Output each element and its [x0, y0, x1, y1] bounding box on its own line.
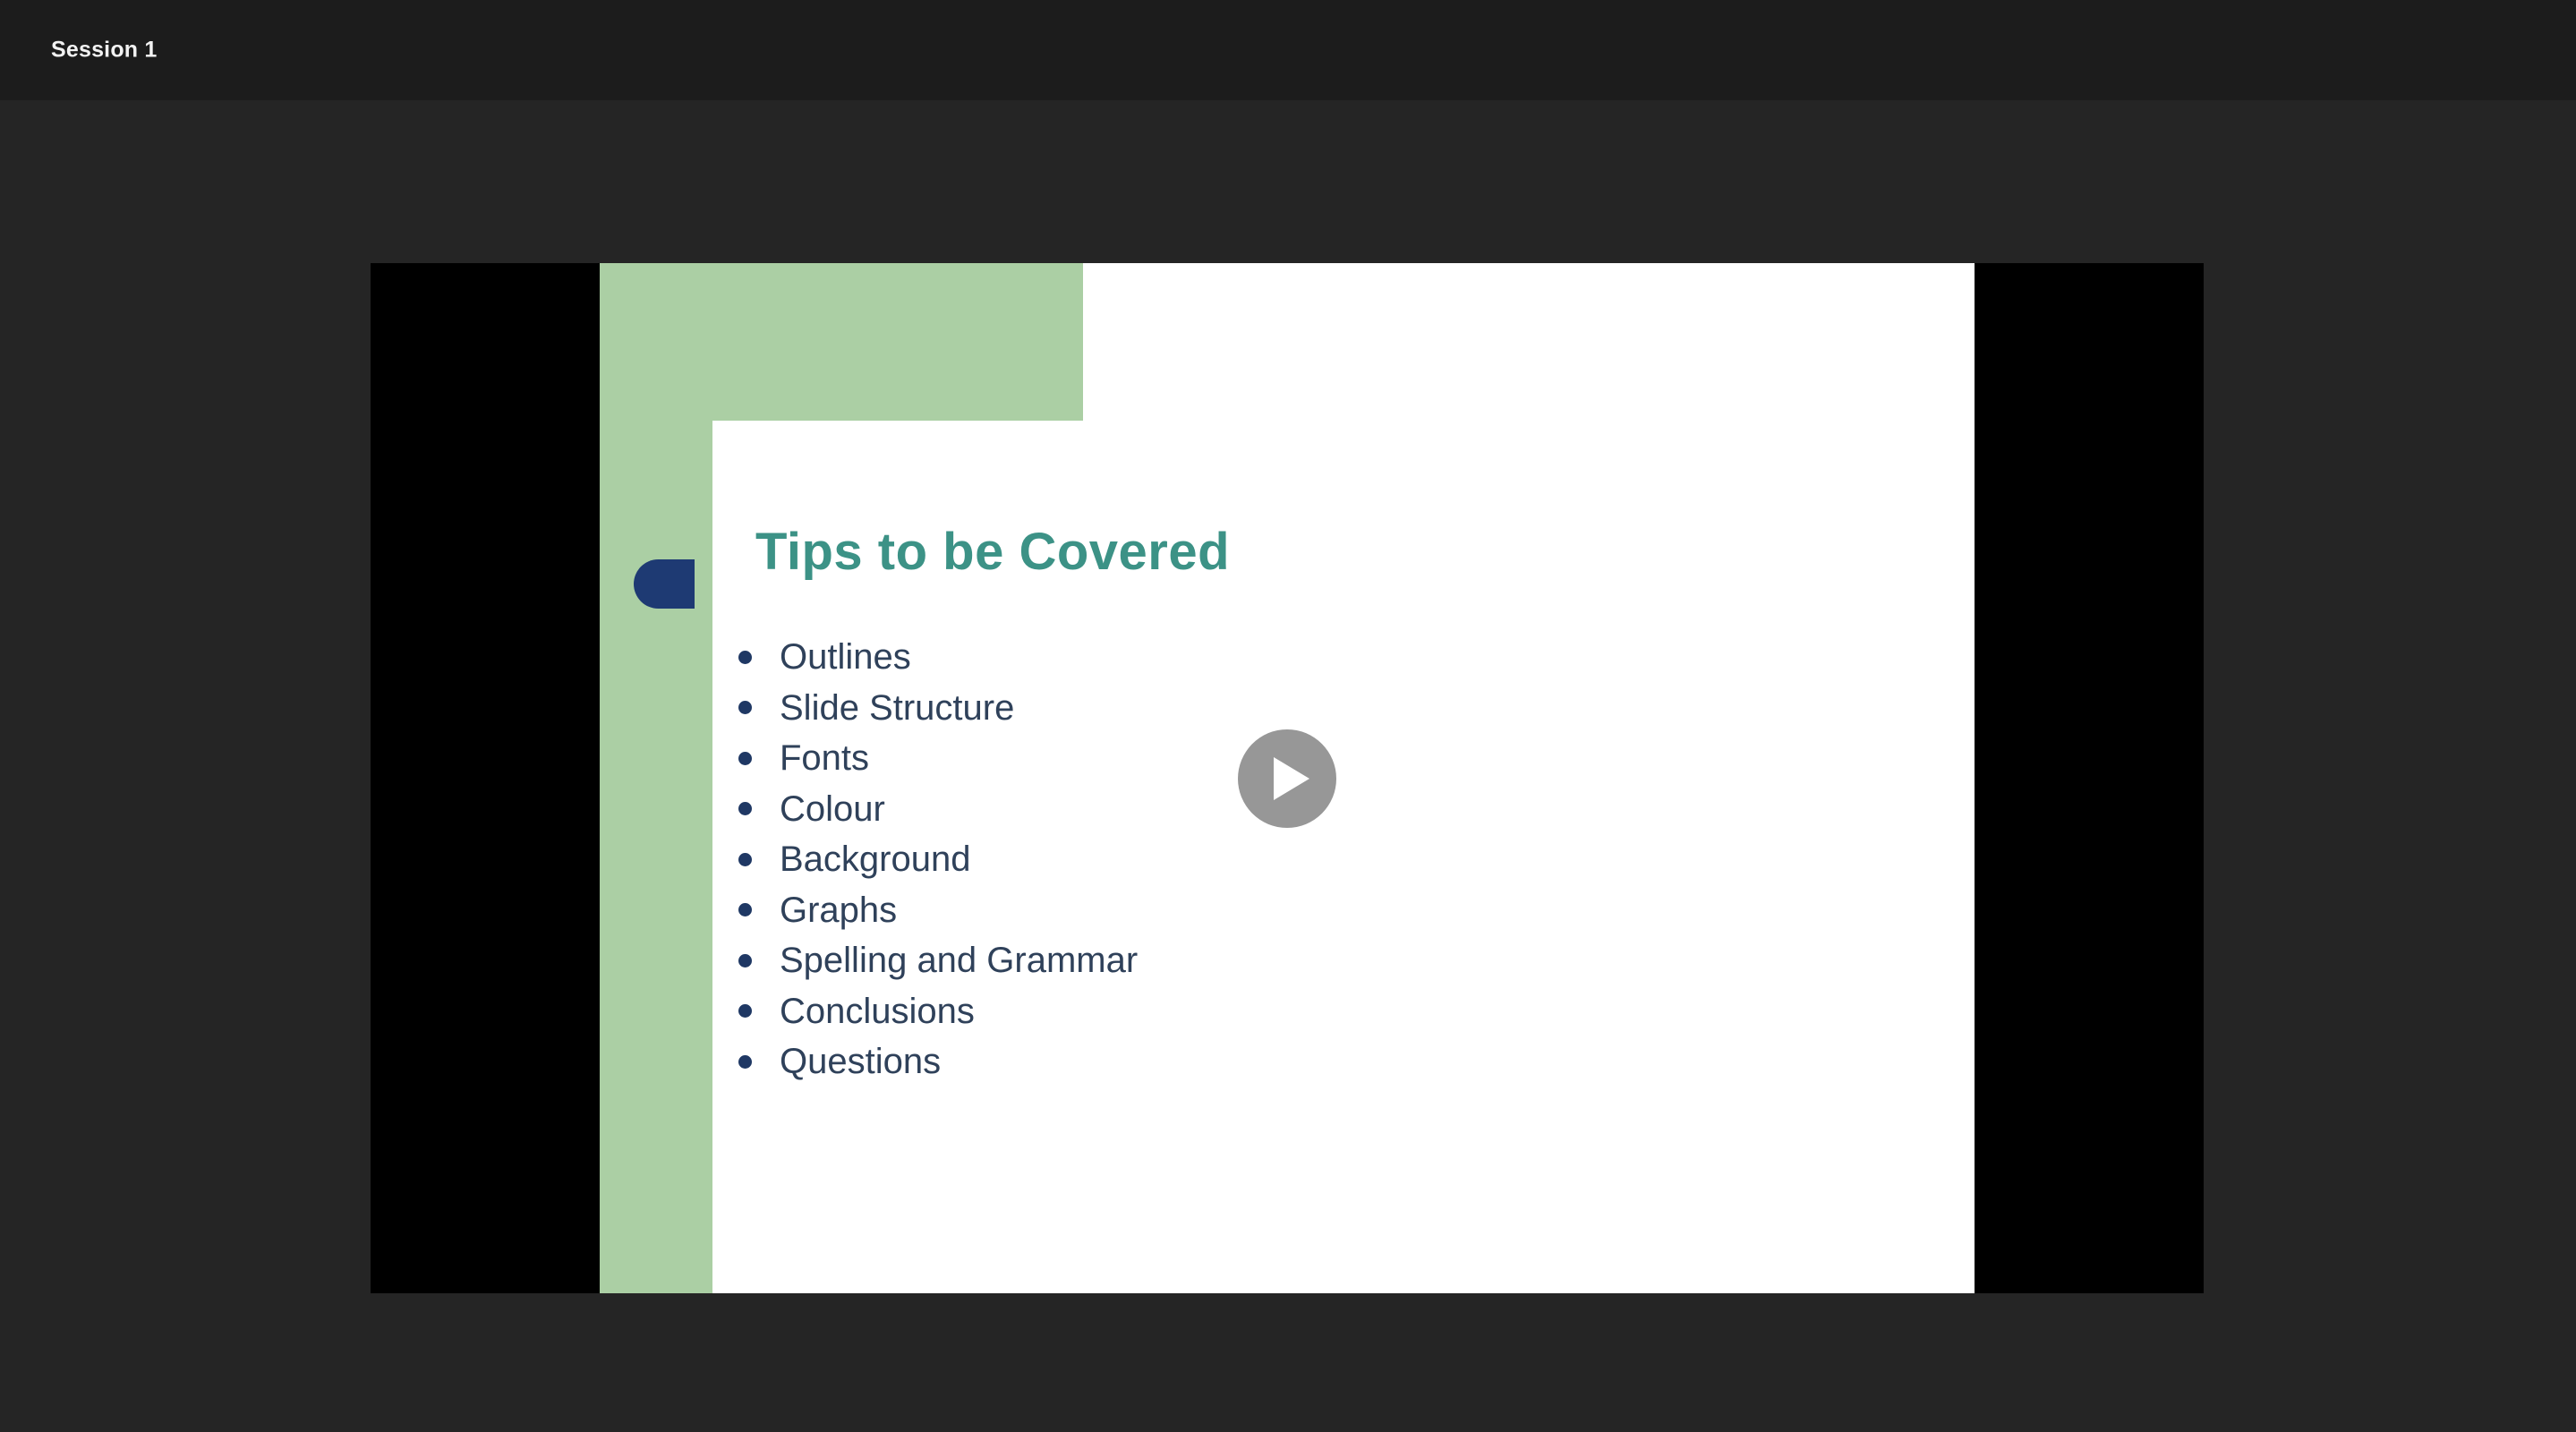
- bullet-dot-icon: [738, 903, 752, 916]
- list-item: Fonts: [738, 733, 1138, 784]
- bullet-dot-icon: [738, 701, 752, 714]
- bullet-dot-icon: [738, 853, 752, 866]
- bullet-label: Questions: [780, 1044, 941, 1079]
- play-button[interactable]: [1238, 729, 1336, 828]
- bullet-label: Colour: [780, 791, 885, 827]
- bullet-dot-icon: [738, 802, 752, 815]
- page-title: Session 1: [51, 38, 158, 64]
- list-item: Colour: [738, 784, 1138, 835]
- video-player[interactable]: Tips to be Covered Outlines Slide Struct…: [371, 263, 2204, 1293]
- play-icon: [1238, 729, 1336, 828]
- slide-bullet-list: Outlines Slide Structure Fonts Colour Ba…: [738, 632, 1138, 1087]
- play-triangle-icon: [1274, 757, 1309, 800]
- list-item: Graphs: [738, 885, 1138, 936]
- bullet-label: Background: [780, 841, 970, 877]
- media-viewer: Session 1: [0, 0, 2576, 1432]
- list-item: Questions: [738, 1036, 1138, 1087]
- bullet-label: Outlines: [780, 639, 911, 675]
- list-item: Slide Structure: [738, 683, 1138, 734]
- bullet-dot-icon: [738, 954, 752, 967]
- slide-title: Tips to be Covered: [755, 522, 1230, 582]
- slide-green-strip: [600, 263, 712, 1293]
- bullet-label: Fonts: [780, 740, 869, 776]
- list-item: Outlines: [738, 632, 1138, 683]
- list-item: Conclusions: [738, 986, 1138, 1037]
- bullet-dot-icon: [738, 1055, 752, 1069]
- bullet-label: Graphs: [780, 892, 897, 928]
- slide-accent-shape: [634, 559, 695, 609]
- bullet-dot-icon: [738, 651, 752, 664]
- bullet-dot-icon: [738, 752, 752, 765]
- bullet-label: Spelling and Grammar: [780, 942, 1138, 978]
- viewer-header: Session 1: [0, 0, 2576, 100]
- list-item: Spelling and Grammar: [738, 935, 1138, 986]
- list-item: Background: [738, 834, 1138, 885]
- bullet-label: Slide Structure: [780, 690, 1014, 726]
- bullet-label: Conclusions: [780, 993, 975, 1029]
- bullet-dot-icon: [738, 1004, 752, 1018]
